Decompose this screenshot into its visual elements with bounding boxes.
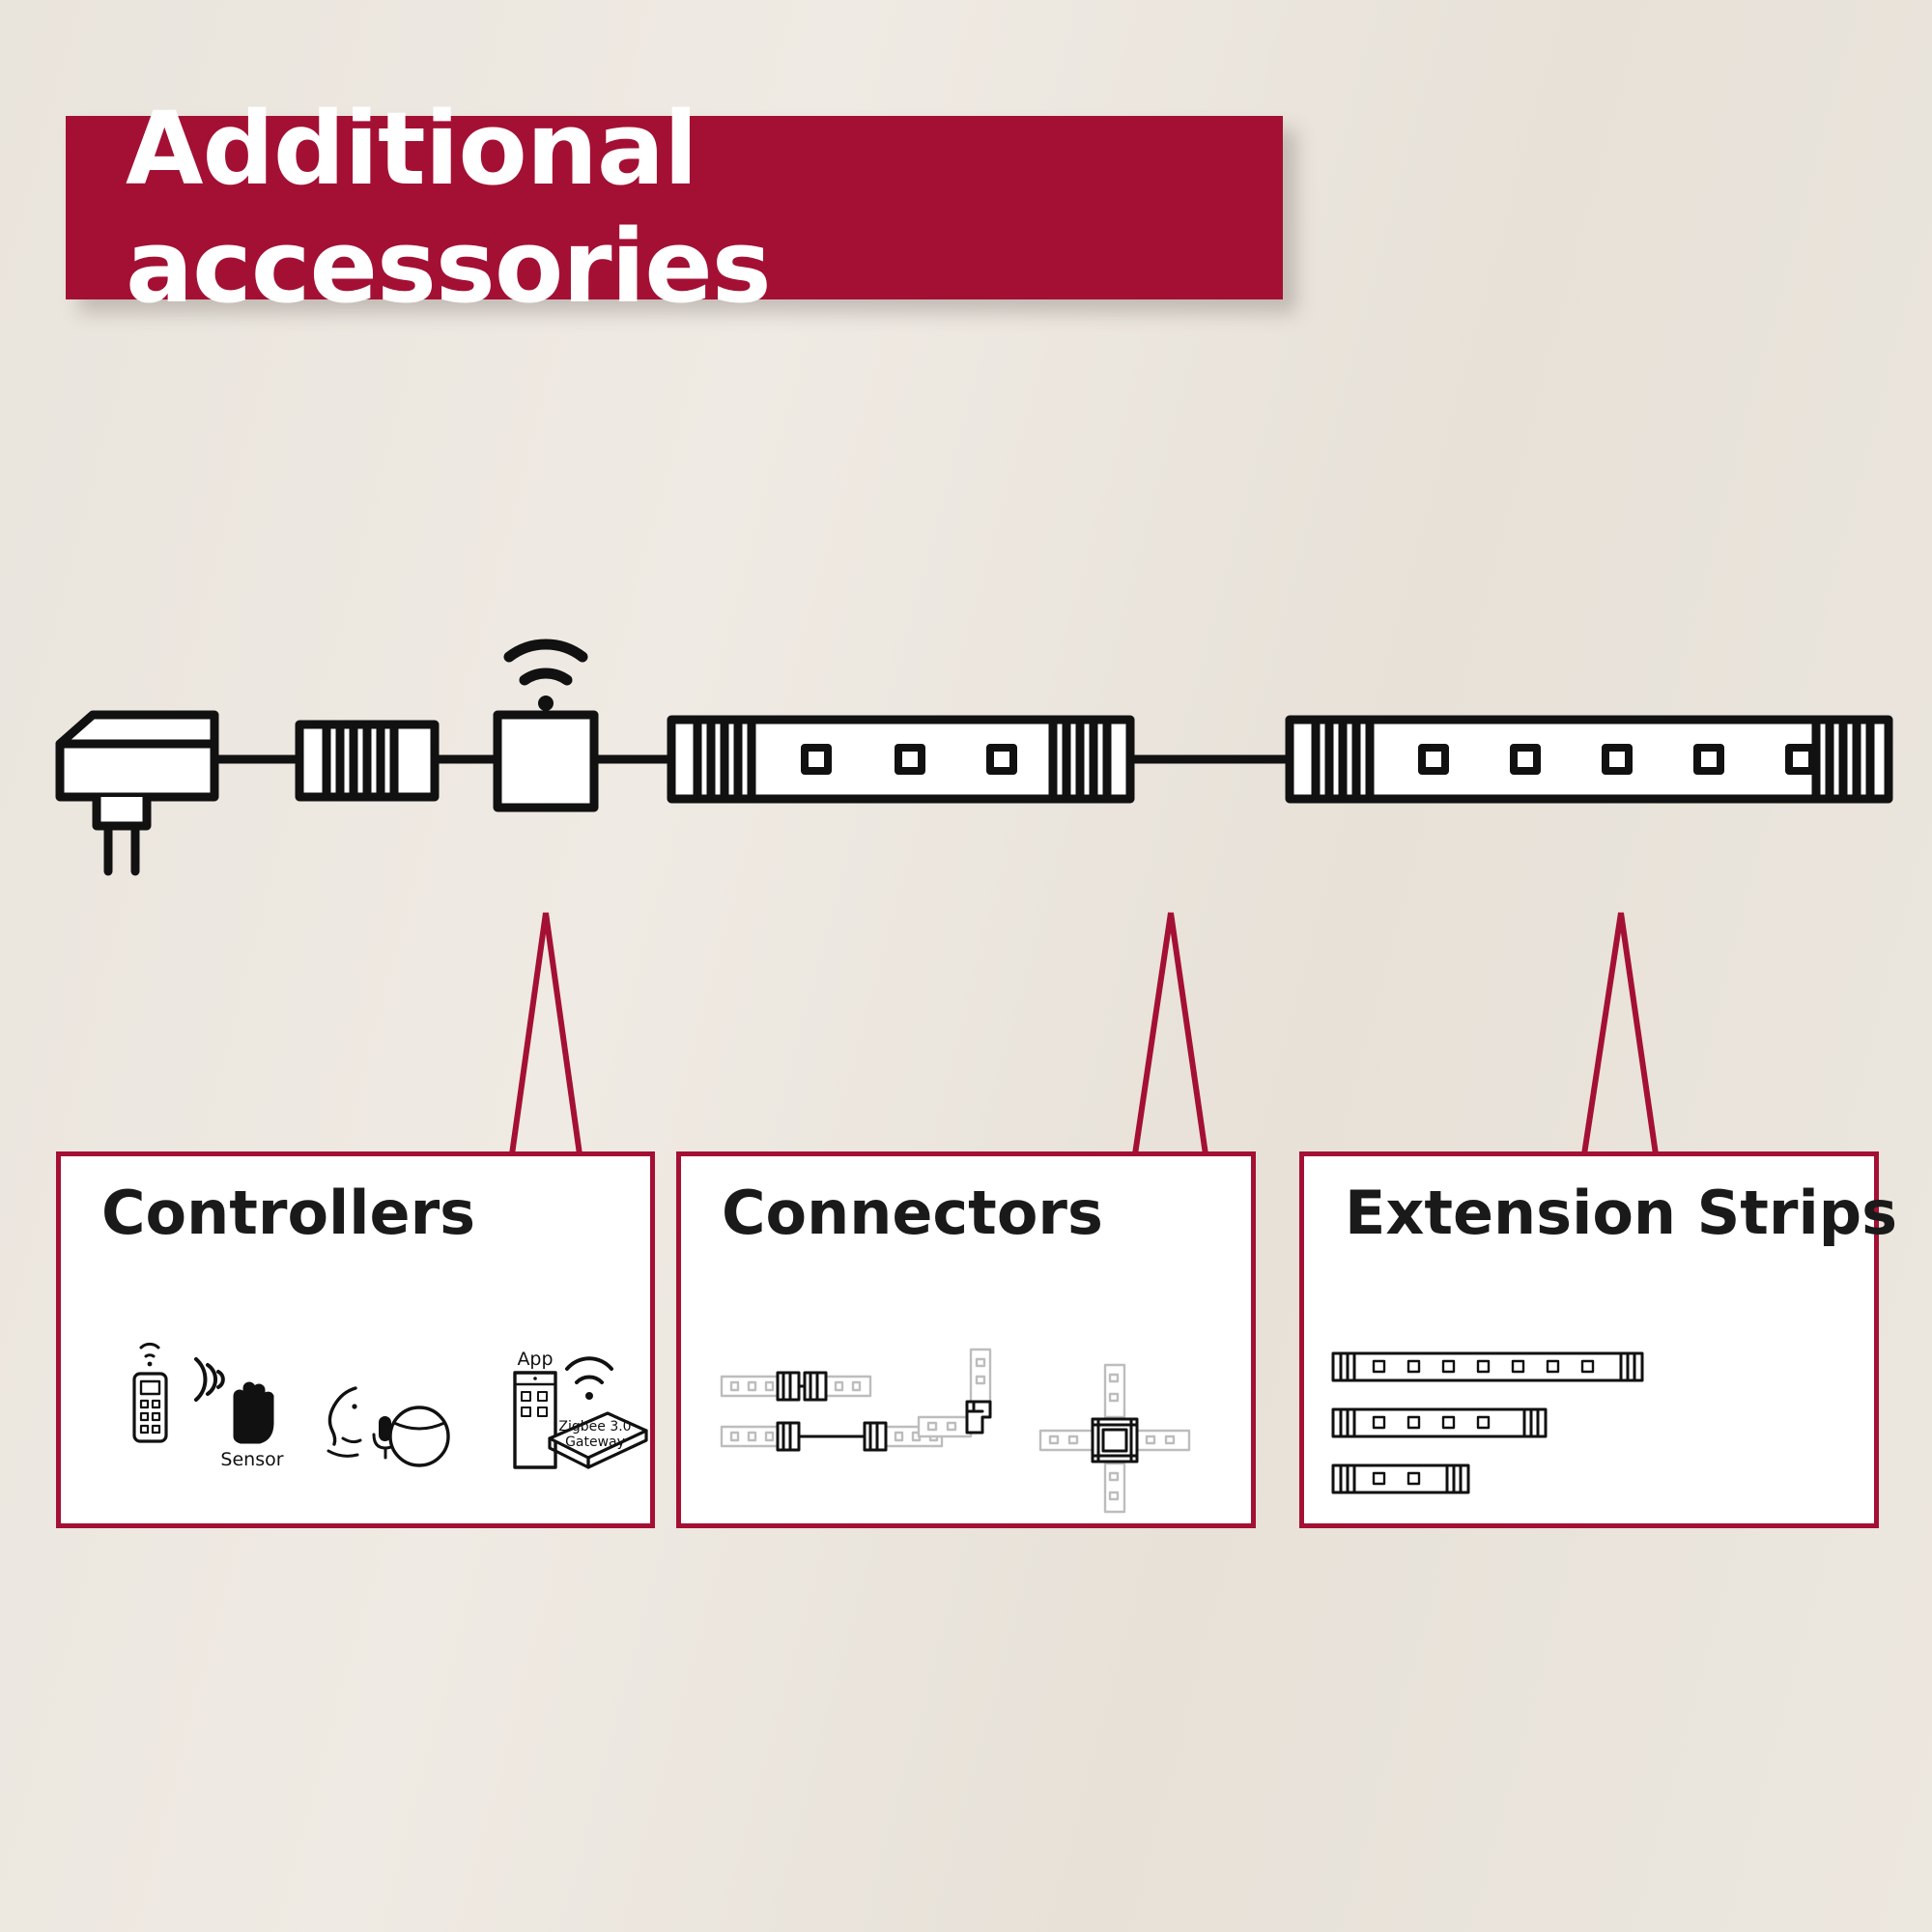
pointer-extension	[1584, 913, 1656, 1154]
extension-strip-short	[1333, 1465, 1468, 1492]
controllers-art: Sensor	[61, 1330, 650, 1533]
callout-boxes: Controllers	[0, 1140, 1932, 1546]
callout-title-connectors: Connectors	[722, 1178, 1103, 1248]
power-supply-icon	[60, 715, 214, 871]
remote-control-icon	[134, 1344, 166, 1441]
led-strip-segment-2	[1290, 720, 1889, 799]
straight-connector-icon	[778, 1373, 826, 1400]
wireless-controller-icon	[497, 715, 594, 808]
cable-connector-icon	[778, 1423, 886, 1450]
app-label: App	[517, 1349, 553, 1370]
motion-sensor-icon	[196, 1359, 272, 1442]
app-phone-icon	[515, 1373, 555, 1467]
wifi-icon	[509, 644, 582, 711]
gateway-label: Gateway	[565, 1435, 625, 1450]
voice-control-icon	[328, 1388, 448, 1465]
extension-strips-art	[1304, 1330, 1874, 1533]
callout-box-connectors[interactable]: Connectors	[676, 1151, 1256, 1528]
pointer-controllers	[512, 913, 580, 1154]
callout-box-extension-strips[interactable]: Extension Strips	[1299, 1151, 1879, 1528]
extension-strip-medium	[1333, 1409, 1546, 1436]
extension-strip-long	[1333, 1353, 1642, 1380]
callout-title-extension: Extension Strips	[1345, 1178, 1897, 1248]
callout-box-controllers[interactable]: Controllers	[56, 1151, 655, 1528]
cross-connector-icon	[1093, 1419, 1137, 1462]
zigbee-label: Zigbee 3.0	[558, 1419, 631, 1435]
inline-connector-icon	[299, 724, 435, 797]
page-title: Additional accessories	[126, 90, 1283, 326]
page-title-banner: Additional accessories	[66, 116, 1283, 299]
pointer-connectors	[1135, 913, 1206, 1154]
connectors-art	[681, 1330, 1251, 1533]
led-strip-segment-1	[671, 720, 1130, 799]
gateway-wifi-icon	[567, 1358, 611, 1400]
callout-pointers	[0, 898, 1932, 1159]
callout-title-controllers: Controllers	[101, 1178, 475, 1248]
sensor-label: Sensor	[220, 1449, 283, 1470]
led-system-chain-diagram	[0, 618, 1932, 908]
corner-connector-icon	[967, 1402, 990, 1433]
